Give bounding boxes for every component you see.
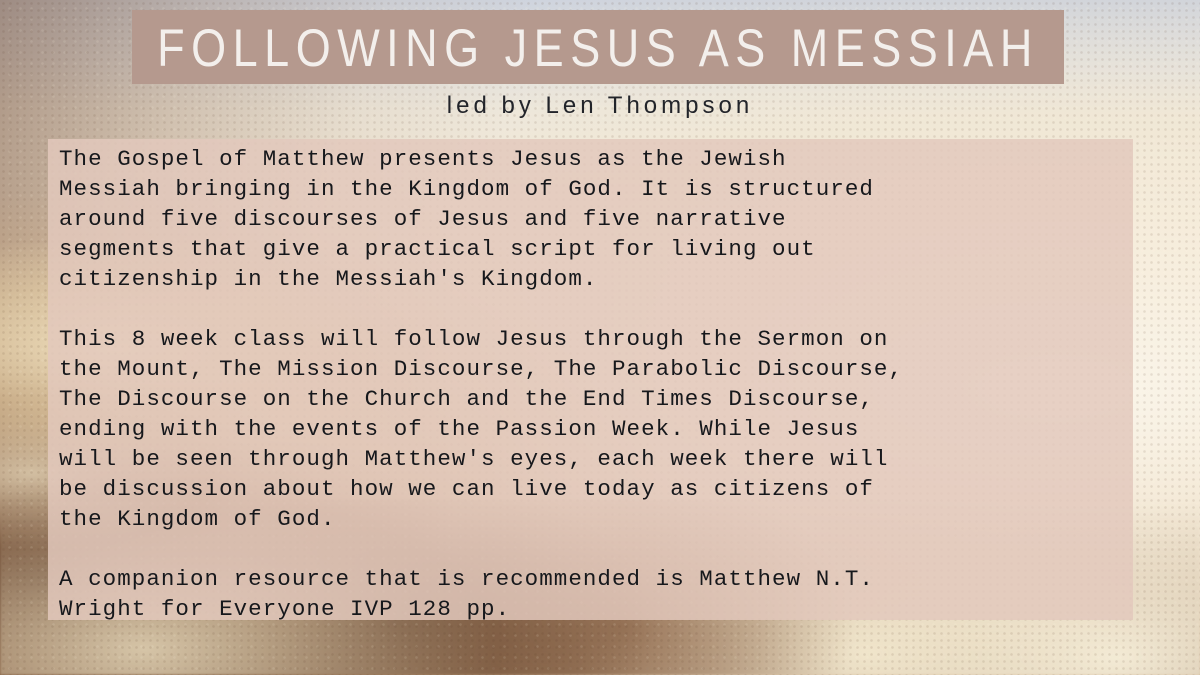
subtitle-led-by: led by Len Thompson <box>0 92 1200 120</box>
slide-canvas: FOLLOWING JESUS AS MESSIAH led by Len Th… <box>0 0 1200 675</box>
page-title: FOLLOWING JESUS AS MESSIAH <box>157 20 1039 73</box>
body-paragraph-2: This 8 week class will follow Jesus thro… <box>59 324 1121 534</box>
description-panel: The Gospel of Matthew presents Jesus as … <box>48 139 1133 620</box>
body-paragraph-1: The Gospel of Matthew presents Jesus as … <box>59 144 1121 294</box>
body-paragraph-3: A companion resource that is recommended… <box>59 564 1121 624</box>
title-banner: FOLLOWING JESUS AS MESSIAH <box>132 10 1064 84</box>
